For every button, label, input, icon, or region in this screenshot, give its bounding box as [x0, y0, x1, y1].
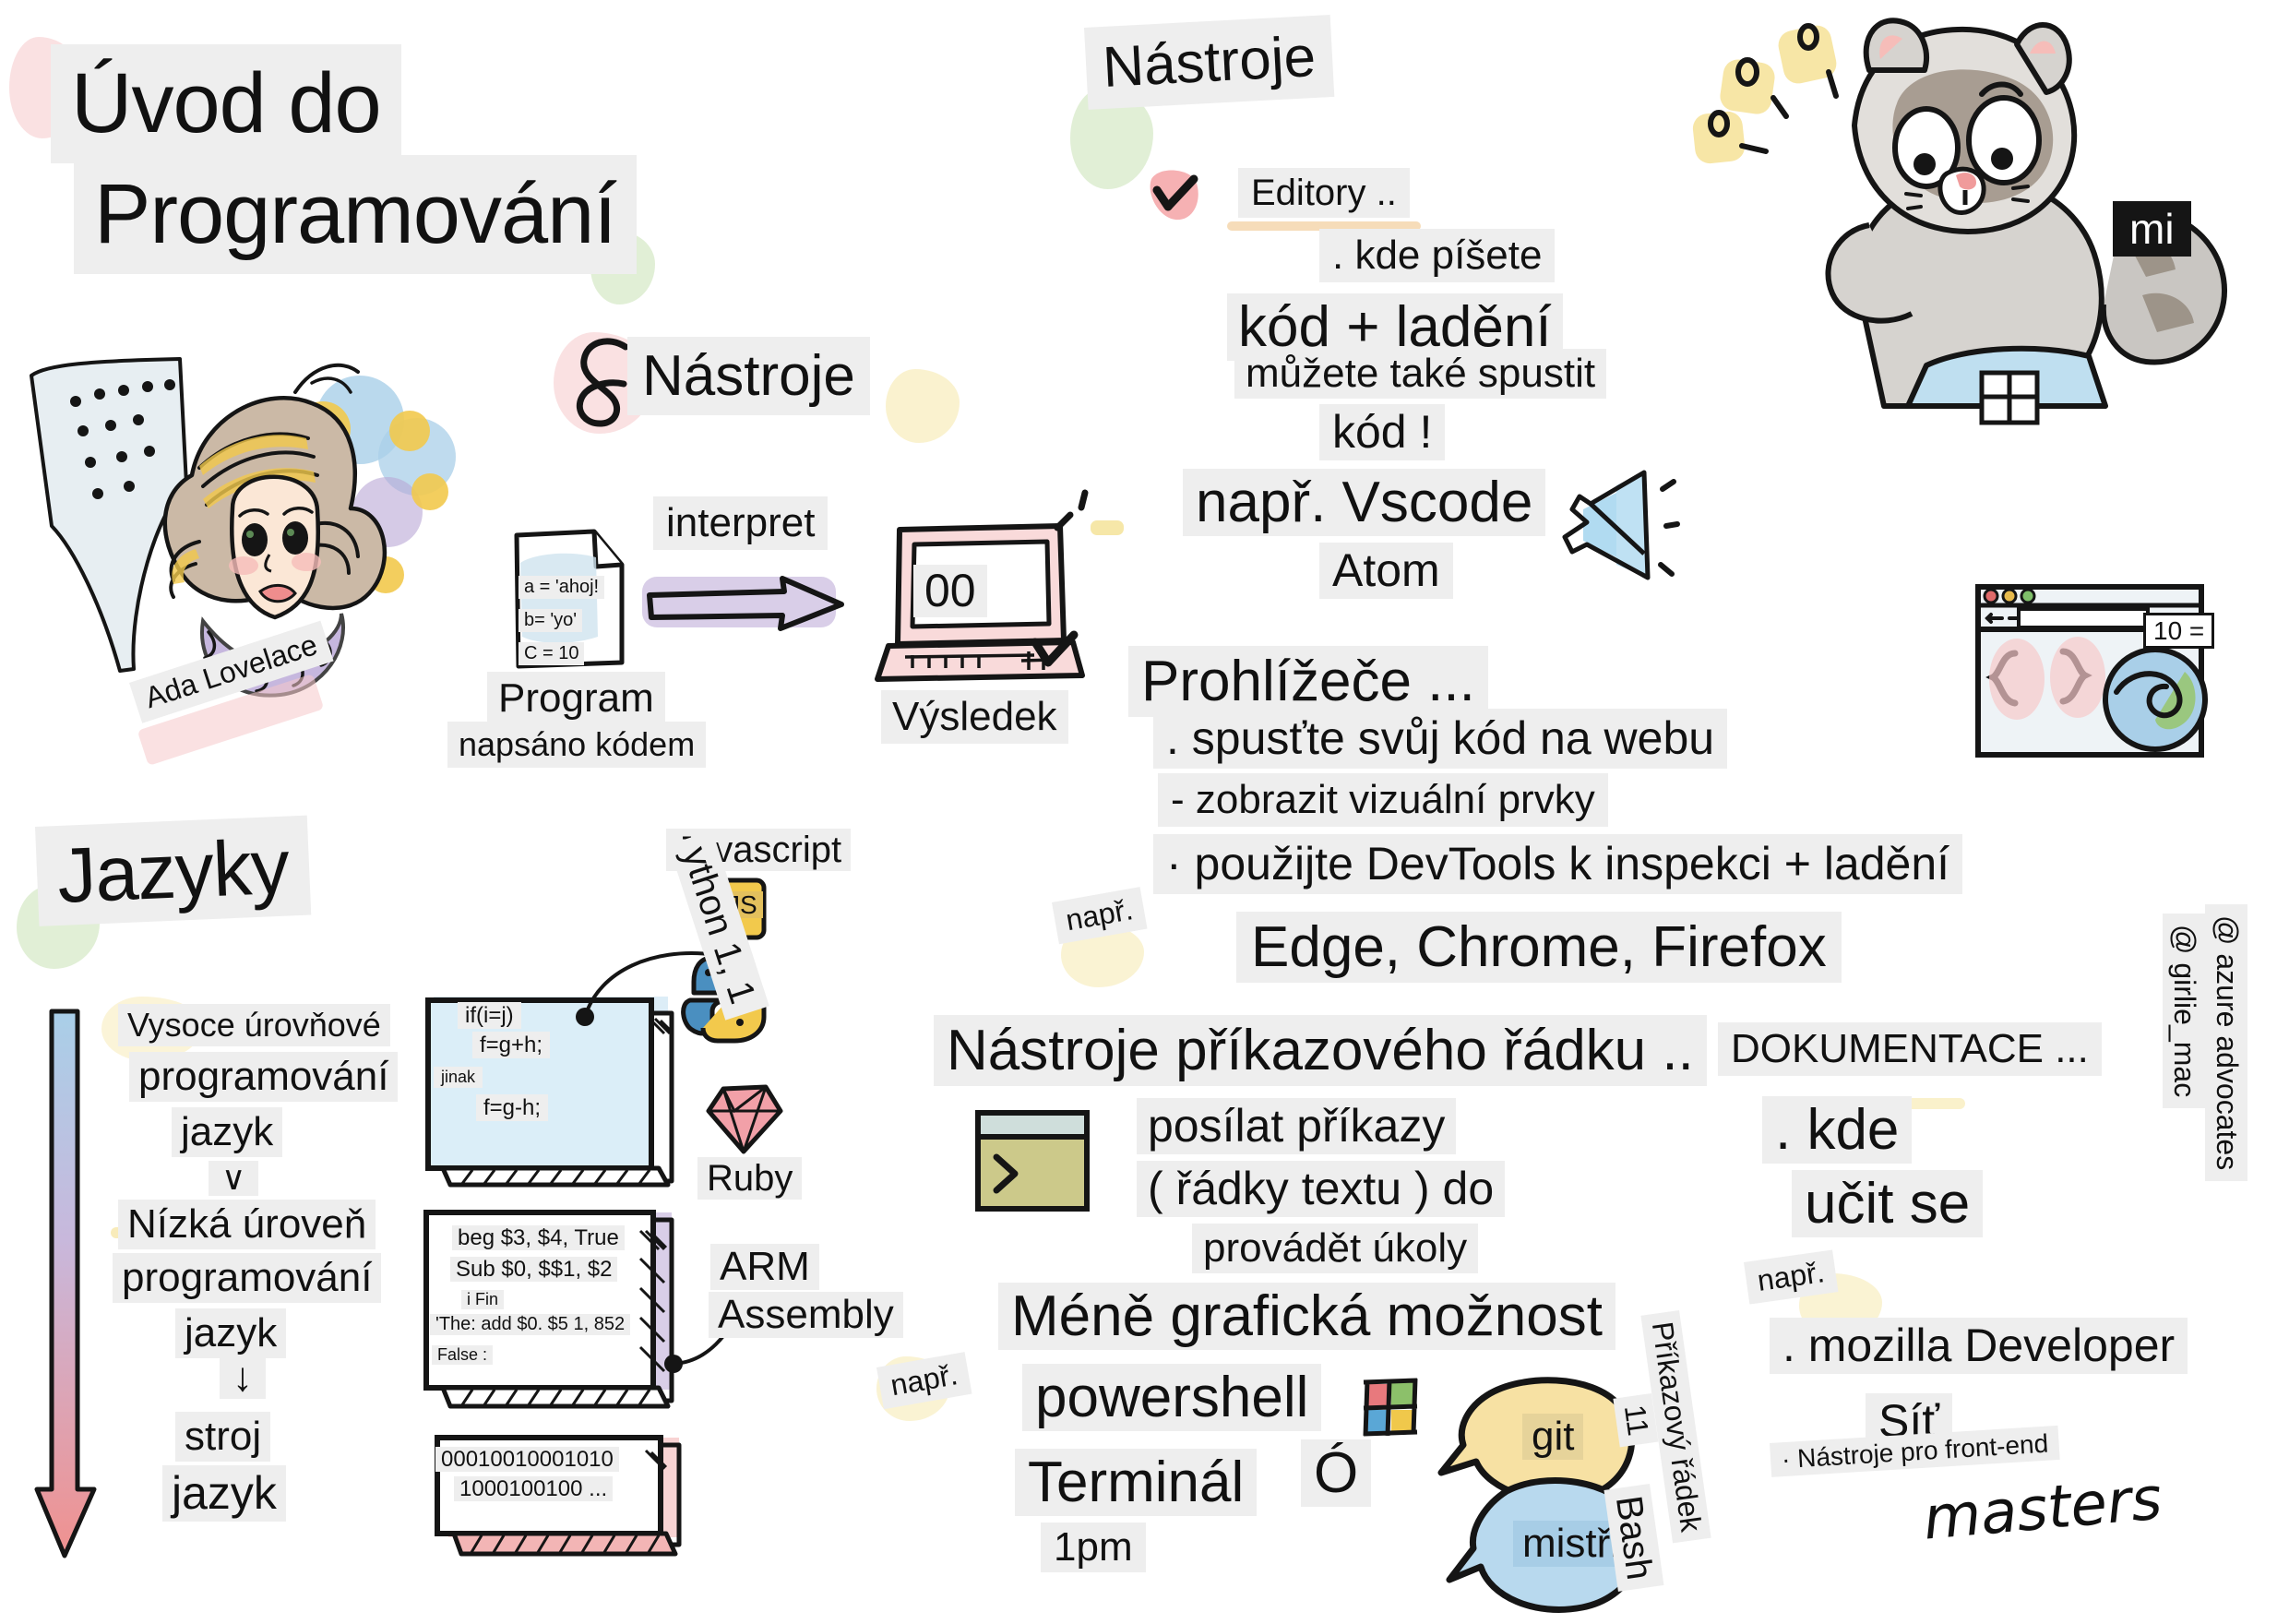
machine-line-2: jazyk	[162, 1465, 286, 1522]
cli-line-5: powershell	[1022, 1364, 1321, 1431]
editors-line-4: kód !	[1319, 404, 1445, 460]
cli-line-1: posílat příkazy	[1137, 1098, 1456, 1154]
program-label-line-2: napsáno kódem	[447, 722, 706, 768]
vscode-icon	[1559, 469, 1679, 589]
editors-line-5: např. Vscode	[1183, 469, 1545, 536]
languages-heading: Jazyky	[35, 816, 311, 926]
high-level-line-1: Vysoce úrovňové	[118, 1004, 390, 1046]
program-label-line-1: Program	[487, 672, 665, 725]
code-asm-line-3: i Fin	[461, 1290, 504, 1309]
docs-line-2: učit se	[1792, 1170, 1983, 1237]
code-asm-line-1: beg $3, $4, True	[452, 1225, 625, 1250]
page-title-line-2: Programování	[74, 155, 637, 274]
high-level-line-3: jazyk	[172, 1107, 282, 1157]
browser-url-badge: 10 =	[2143, 613, 2214, 649]
high-level-line-2: programování	[129, 1052, 398, 1102]
browsers-line-4: Edge, Chrome, Firefox	[1236, 912, 1842, 983]
tools-heading: Nástroje	[1084, 15, 1334, 110]
code-binary-line-2: 1000100100 ...	[454, 1476, 613, 1501]
signature-masters: masters	[1921, 1468, 2164, 1551]
browsers-heading: Prohlížeče ...	[1128, 646, 1488, 717]
cli-heading: Nástroje příkazového řádku ..	[934, 1015, 1707, 1086]
code-asm-line-4: 'The: add $0. $5 1, 852	[430, 1314, 630, 1335]
code-high-line-2: f=g+h;	[472, 1032, 550, 1058]
arm-label-line-1: ARM	[710, 1244, 819, 1290]
interpret-arrow-icon	[646, 577, 849, 632]
code-asm-line-2: Sub $0, $$1, $2	[450, 1257, 617, 1282]
code-asm-line-5: False :	[432, 1345, 493, 1365]
docs-line-3: . mozilla Developer	[1770, 1318, 2188, 1374]
editors-item: Editory ..	[1238, 168, 1410, 218]
docs-line-5: · Nástroje pro front-end	[1770, 1426, 2060, 1477]
cli-line-4: Méně grafická možnost	[998, 1283, 1615, 1350]
docs-heading: DOKUMENTACE ...	[1718, 1022, 2102, 1076]
credit-person-handle: @ girlie_mac	[2163, 913, 2205, 1108]
terminal-icon	[969, 1100, 1107, 1229]
editors-line-6: Atom	[1319, 543, 1453, 599]
ruby-label: Ruby	[697, 1157, 802, 1200]
browser-window-icon	[1974, 581, 2233, 766]
level-arrow-2: ↓	[220, 1356, 266, 1399]
infographic-canvas: Úvod do Programování Nástroje	[0, 0, 2289, 1614]
wash-yellow-sub	[886, 369, 960, 443]
result-screen-text: 00	[913, 565, 987, 617]
arm-label-line-2: Assembly	[709, 1292, 903, 1338]
machine-line-1: stroj	[175, 1412, 270, 1462]
low-level-line-1: Nízká úroveň	[118, 1200, 376, 1249]
code-binary-line-1: 00010010001010	[435, 1447, 619, 1472]
code-high-line-1: if(i=j)	[458, 1002, 521, 1029]
credit-org-handle: @ azure advocates	[2205, 904, 2247, 1181]
browsers-line-3: · použijte DevTools k inspekci + ladění	[1153, 834, 1962, 894]
cli-rot-line-2: 11	[1614, 1393, 1659, 1447]
editors-line-1: . kde píšete	[1319, 229, 1555, 282]
cli-line-6: Terminál	[1015, 1449, 1257, 1516]
check-pink-icon	[1144, 166, 1209, 231]
cli-line-7: 1pm	[1041, 1522, 1146, 1572]
low-level-line-2: programování	[113, 1253, 381, 1303]
editors-line-3: můžete také spustit	[1234, 349, 1606, 399]
program-code-line-1: a = 'ahoj!	[519, 576, 604, 599]
interpret-label: interpret	[653, 496, 828, 550]
cli-line-6-extra: Ó	[1301, 1439, 1371, 1507]
check-dark-icon	[1031, 633, 1078, 675]
cli-line-3: provádět úkoly	[1192, 1224, 1478, 1273]
sparkle-icon	[1043, 489, 1126, 591]
windows-logo-icon	[1358, 1377, 1425, 1443]
page-subtitle: Nástroje	[627, 337, 870, 415]
abstraction-gradient-arrow-icon	[37, 1006, 111, 1578]
mascot-label: mi	[2113, 201, 2191, 257]
level-arrow-1: ∨	[209, 1161, 258, 1196]
low-level-line-3: jazyk	[175, 1308, 286, 1358]
program-code-line-2: b= 'yo'	[519, 609, 582, 632]
page-title-line-1: Úvod do	[51, 44, 401, 163]
program-code-line-3: C = 10	[519, 642, 584, 665]
code-high-line-4: f=g-h;	[476, 1094, 548, 1121]
result-label: Výsledek	[881, 690, 1068, 744]
cli-line-2: ( řádky textu ) do	[1137, 1161, 1505, 1217]
bubble-git-label: git	[1522, 1414, 1583, 1460]
browsers-line-2: - zobrazit vizuální prvky	[1158, 773, 1608, 827]
browsers-line-1: . spusťte svůj kód na webu	[1153, 709, 1727, 769]
code-high-line-3: jinak	[434, 1067, 483, 1088]
docs-line-1: . kde	[1762, 1096, 1912, 1164]
ruby-icon	[703, 1081, 786, 1157]
